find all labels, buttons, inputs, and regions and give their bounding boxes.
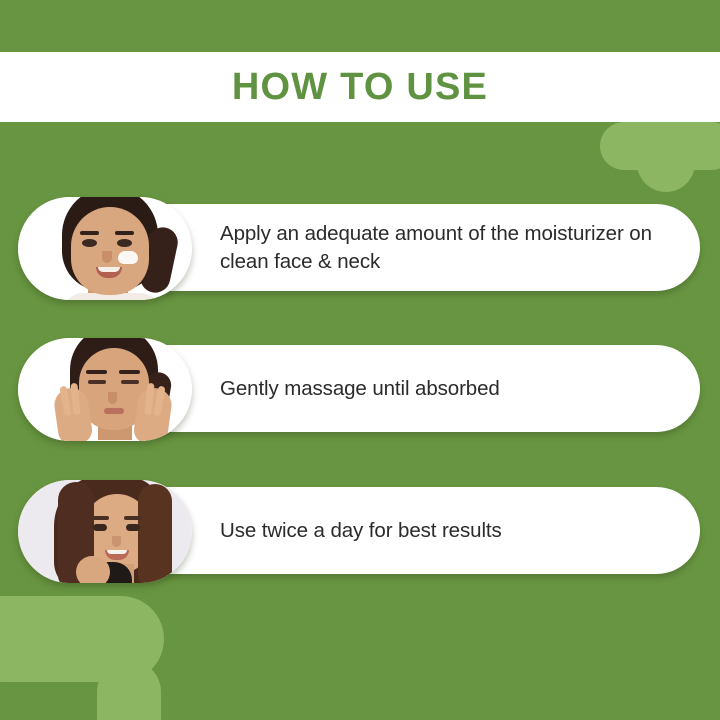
page-title: HOW TO USE <box>232 66 488 109</box>
woman-smiling-icon <box>18 480 192 583</box>
step-text: Apply an adequate amount of the moisturi… <box>220 204 680 291</box>
step-photo-3 <box>18 480 192 583</box>
step-photo-1 <box>18 197 192 300</box>
step-text: Use twice a day for best results <box>220 487 680 574</box>
woman-applying-cream-icon <box>18 197 192 300</box>
woman-massaging-face-icon <box>18 338 192 441</box>
how-to-use-poster: HOW TO USE Apply an adequate amount of t… <box>0 0 720 720</box>
step-photo-2 <box>18 338 192 441</box>
list-item: Gently massage until absorbed <box>0 331 720 447</box>
header-band: HOW TO USE <box>0 52 720 122</box>
list-item: Use twice a day for best results <box>0 473 720 589</box>
list-item: Apply an adequate amount of the moisturi… <box>0 190 720 306</box>
step-text: Gently massage until absorbed <box>220 345 680 432</box>
